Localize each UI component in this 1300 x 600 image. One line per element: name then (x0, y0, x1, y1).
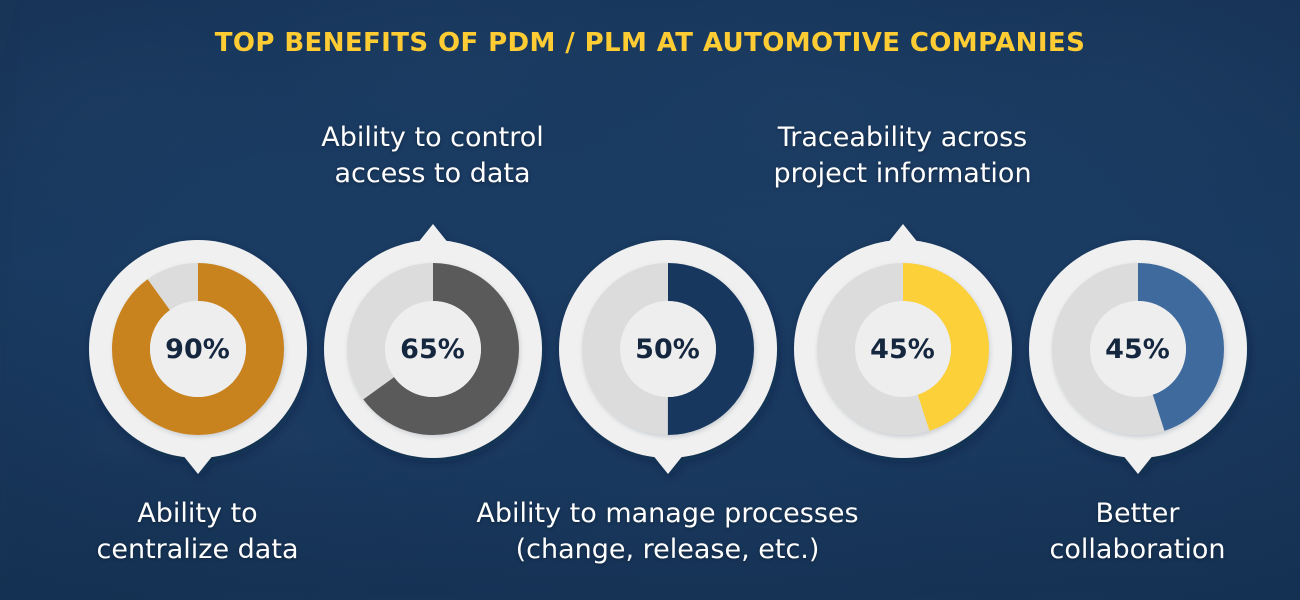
donut-graphic (784, 230, 1022, 468)
donut-item-3: Ability to manage processes(change, rele… (550, 0, 785, 600)
donut-graphic (549, 230, 787, 468)
donut-hole (620, 301, 716, 397)
caption-line-1: Better (1050, 496, 1226, 532)
donut-chart-4: 45% (784, 230, 1022, 468)
donut-caption-5: Bettercollaboration (1050, 496, 1226, 568)
caption-line-2: project information (773, 156, 1031, 192)
infographic: TOP BENEFITS OF PDM / PLM AT AUTOMOTIVE … (0, 0, 1300, 600)
donut-caption-2: Ability to controlaccess to data (321, 120, 544, 192)
donut-hole (150, 301, 246, 397)
donut-graphic (314, 230, 552, 468)
donut-graphic (79, 230, 317, 468)
caption-line-1: Ability to control (321, 120, 544, 156)
caption-line-1: Traceability across (773, 120, 1031, 156)
caption-line-1: Ability to (97, 496, 299, 532)
caption-line-2: collaboration (1050, 532, 1226, 568)
donut-chart-1: 90% (79, 230, 317, 468)
donut-chart-5: 45% (1019, 230, 1257, 468)
donut-hole (385, 301, 481, 397)
donut-caption-1: Ability tocentralize data (97, 496, 299, 568)
caption-line-2: centralize data (97, 532, 299, 568)
donut-graphic (1019, 230, 1257, 468)
donut-hole (855, 301, 951, 397)
donut-item-1: Ability tocentralize data90% (80, 0, 315, 600)
donut-caption-4: Traceability acrossproject information (773, 120, 1031, 192)
donut-chart-3: 50% (549, 230, 787, 468)
donut-item-4: Traceability acrossproject information45… (785, 0, 1020, 600)
donut-hole (1090, 301, 1186, 397)
caption-line-2: access to data (321, 156, 544, 192)
donut-chart-2: 65% (314, 230, 552, 468)
donut-item-5: Bettercollaboration45% (1020, 0, 1255, 600)
